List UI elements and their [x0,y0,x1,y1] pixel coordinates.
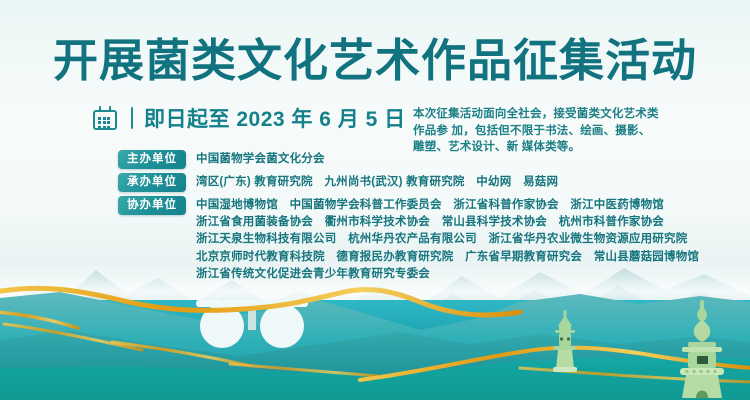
description-line-1: 本次征集活动面向全社会，接受菌类文化艺术类 [413,106,698,123]
coorganizer-name-3: 浙江天泉生物科技有限公司 杭州华丹农产品有限公司 浙江省华丹农业微生物资源应用研… [196,231,699,248]
right-pagoda [672,300,732,400]
coorganizer-name-1: 中国湿地博物馆 中国菌物学会科普工作委员会 浙江省科普作家协会 浙江中医药博物馆 [196,197,699,214]
left-pagoda [548,310,582,372]
badge-coorganizer: 协办单位 [118,196,186,215]
badge-organizer: 承办单位 [118,173,186,192]
organizers-section: 主办单位 中国菌物学会菌文化分会 承办单位 湾区(广东) 教育研究院 九州尚书(… [118,150,718,287]
organizer-name-1: 湾区(广东) 教育研究院 九州尚书(武汉) 教育研究院 中幼网 易菇网 [196,174,558,191]
coorganizer-name-2: 浙江省食用菌装备协会 衢州市科学技术协会 常山县科学技术协会 杭州市科普作家协会 [196,214,699,231]
organizer-row-coorganizer: 协办单位 中国湿地博物馆 中国菌物学会科普工作委员会 浙江省科普作家协会 浙江中… [118,196,718,283]
description-line-2: 作品参 加，包括但不限于书法、绘画、摄影、 [413,123,698,140]
date-row: 即日起至 2023 年 6 月 5 日 [93,103,406,133]
coorganizer-name-5: 浙江省传统文化促进会青少年教育研究专委会 [196,266,699,283]
poster-canvas: 开展菌类文化艺术作品征集活动 即日起至 2023 年 6 月 5 日 本次征集活… [0,0,750,400]
calendar-icon [93,106,119,131]
badge-host: 主办单位 [118,150,186,169]
coorganizer-names: 中国湿地博物馆 中国菌物学会科普工作委员会 浙江省科普作家协会 浙江中医药博物馆… [196,196,699,283]
date-divider [131,107,133,129]
host-name-1: 中国菌物学会菌文化分会 [196,151,325,168]
host-names: 中国菌物学会菌文化分会 [196,150,325,168]
organizer-names: 湾区(广东) 教育研究院 九州尚书(武汉) 教育研究院 中幼网 易菇网 [196,173,558,191]
gold-ridge-lines [0,268,750,400]
organizer-row-organizer: 承办单位 湾区(广东) 教育研究院 九州尚书(武汉) 教育研究院 中幼网 易菇网 [118,173,718,192]
page-title: 开展菌类文化艺术作品征集活动 [0,34,750,88]
date-text: 即日起至 2023 年 6 月 5 日 [144,103,406,133]
coorganizer-name-4: 北京京师时代教育科技院 德育报民办教育研究院 广东省早期教育研究会 常山县蘑菇园… [196,249,699,266]
description-text: 本次征集活动面向全社会，接受菌类文化艺术类 作品参 加，包括但不限于书法、绘画、… [413,106,698,156]
organizer-row-host: 主办单位 中国菌物学会菌文化分会 [118,150,718,169]
